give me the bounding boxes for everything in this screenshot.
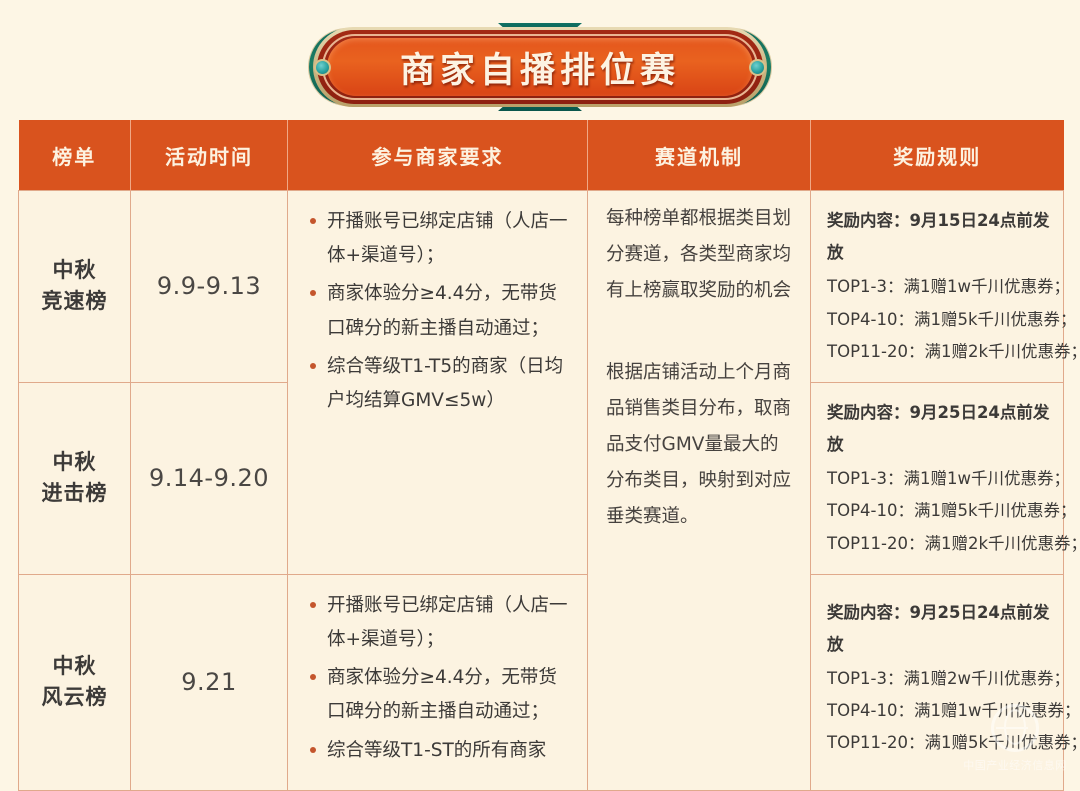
rewards-line: TOP11-20：满1赠2k千川优惠券； [827, 528, 1051, 560]
requirements-list: 开播账号已绑定店铺（人店一体+渠道号）； 商家体验分≥4.4分，无带货口碑分的新… [288, 191, 587, 436]
banner-knob-left-icon [314, 59, 331, 76]
list-item: 综合等级T1-ST的所有商家 [310, 734, 569, 768]
column-header-rewards: 奖励规则 [811, 120, 1064, 191]
cell-mechanism: 每种榜单都根据类目划分赛道，各类型商家均有上榜赢取奖励的机会 根据店铺活动上个月… [588, 191, 811, 791]
page-title: 商家自播排位赛 [400, 42, 680, 93]
column-header-mechanism: 赛道机制 [588, 120, 811, 191]
rewards-block: 奖励内容：9月15日24点前发放 TOP1-3：满1赠1w千川优惠券； TOP4… [811, 191, 1063, 382]
list-item: 开播账号已绑定店铺（人店一体+渠道号）； [310, 205, 569, 273]
banner-plaque: 商家自播排位赛 [309, 27, 771, 107]
list-item: 商家体验分≥4.4分，无带货口碑分的新主播自动通过； [310, 277, 569, 345]
rewards-line: TOP11-20：满1赠5k千川优惠券； [827, 727, 1051, 759]
cell-board-name: 中秋 进击榜 [19, 382, 131, 574]
cell-requirements: 开播账号已绑定店铺（人店一体+渠道号）； 商家体验分≥4.4分，无带货口碑分的新… [288, 191, 588, 575]
rewards-line: TOP1-3：满1赠1w千川优惠券； [827, 463, 1051, 495]
board-name-line1: 中秋 [19, 447, 130, 479]
rewards-title: 奖励内容：9月25日24点前发放 [827, 397, 1051, 461]
column-header-board: 榜单 [19, 120, 131, 191]
banner-knob-right-icon [749, 59, 766, 76]
mechanism-text: 每种榜单都根据类目划分赛道，各类型商家均有上榜赢取奖励的机会 根据店铺活动上个月… [588, 191, 810, 546]
cell-board-name: 中秋 竞速榜 [19, 191, 131, 383]
column-header-requirements: 参与商家要求 [288, 120, 588, 191]
board-name-line1: 中秋 [19, 255, 130, 287]
list-item: 综合等级T1-T5的商家（日均户均结算GMV≤5w） [310, 350, 569, 418]
table-header-row: 榜单 活动时间 参与商家要求 赛道机制 奖励规则 [19, 120, 1064, 191]
board-name-line2: 进击榜 [19, 478, 130, 510]
ranking-rules-table: 榜单 活动时间 参与商家要求 赛道机制 奖励规则 中秋 竞速榜 9.9-9.13… [18, 120, 1064, 791]
rewards-line: TOP11-20：满1赠2k千川优惠券； [827, 336, 1051, 368]
list-item: 商家体验分≥4.4分，无带货口碑分的新主播自动通过； [310, 661, 569, 729]
cell-board-name: 中秋 风云榜 [19, 574, 131, 790]
board-name-line2: 风云榜 [19, 682, 130, 714]
rewards-title: 奖励内容：9月25日24点前发放 [827, 597, 1051, 661]
cell-period: 9.14-9.20 [131, 382, 288, 574]
board-name-line1: 中秋 [19, 651, 130, 683]
title-banner: 商家自播排位赛 [0, 22, 1080, 112]
cell-period: 9.21 [131, 574, 288, 790]
mechanism-paragraph-1: 每种榜单都根据类目划分赛道，各类型商家均有上榜赢取奖励的机会 [606, 201, 794, 309]
table-row: 中秋 风云榜 9.21 开播账号已绑定店铺（人店一体+渠道号）； 商家体验分≥4… [19, 574, 1064, 790]
rewards-line: TOP4-10：满1赠1w千川优惠券； [827, 695, 1051, 727]
rewards-line: TOP4-10：满1赠5k千川优惠券； [827, 495, 1051, 527]
cell-rewards: 奖励内容：9月25日24点前发放 TOP1-3：满1赠2w千川优惠券； TOP4… [811, 574, 1064, 790]
column-header-period: 活动时间 [131, 120, 288, 191]
table-row: 中秋 竞速榜 9.9-9.13 开播账号已绑定店铺（人店一体+渠道号）； 商家体… [19, 191, 1064, 383]
cell-rewards: 奖励内容：9月25日24点前发放 TOP1-3：满1赠1w千川优惠券； TOP4… [811, 382, 1064, 574]
cell-rewards: 奖励内容：9月15日24点前发放 TOP1-3：满1赠1w千川优惠券； TOP4… [811, 191, 1064, 383]
board-name-line2: 竞速榜 [19, 286, 130, 318]
mechanism-paragraph-2: 根据店铺活动上个月商品销售类目分布，取商品支付GMV量最大的分布类目，映射到对应… [606, 355, 794, 535]
cell-requirements: 开播账号已绑定店铺（人店一体+渠道号）； 商家体验分≥4.4分，无带货口碑分的新… [288, 574, 588, 790]
rewards-line: TOP1-3：满1赠1w千川优惠券； [827, 271, 1051, 303]
rewards-line: TOP1-3：满1赠2w千川优惠券； [827, 663, 1051, 695]
rewards-line: TOP4-10：满1赠5k千川优惠券； [827, 304, 1051, 336]
rewards-title: 奖励内容：9月15日24点前发放 [827, 205, 1051, 269]
cell-period: 9.9-9.13 [131, 191, 288, 383]
list-item: 开播账号已绑定店铺（人店一体+渠道号）； [310, 589, 569, 657]
requirements-list: 开播账号已绑定店铺（人店一体+渠道号）； 商家体验分≥4.4分，无带货口碑分的新… [288, 575, 587, 786]
rewards-block: 奖励内容：9月25日24点前发放 TOP1-3：满1赠1w千川优惠券； TOP4… [811, 383, 1063, 574]
rewards-block: 奖励内容：9月25日24点前发放 TOP1-3：满1赠2w千川优惠券； TOP4… [811, 575, 1063, 774]
